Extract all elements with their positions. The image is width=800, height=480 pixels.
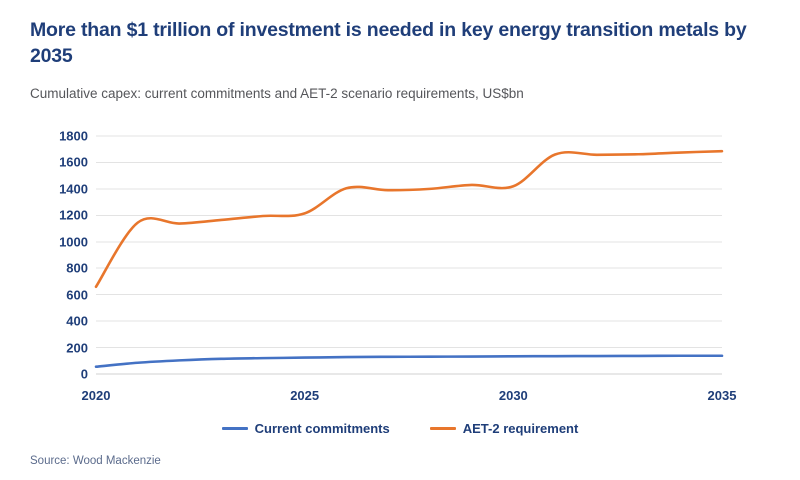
y-axis-tick-label: 1800	[32, 129, 88, 144]
y-axis-tick-label: 1200	[32, 208, 88, 223]
series-line-aet-2-requirement	[96, 151, 722, 287]
legend-item-aet-2-requirement[interactable]: AET-2 requirement	[430, 421, 579, 436]
x-axis-tick-label: 2020	[61, 388, 131, 403]
plot-area: 020040060080010001200140016001800 202020…	[0, 0, 800, 480]
y-axis-tick-label: 800	[32, 261, 88, 276]
legend-swatch-current-commitments	[222, 427, 248, 430]
series-lines	[96, 151, 722, 367]
line-chart-svg	[0, 0, 800, 480]
y-axis-tick-label: 1400	[32, 181, 88, 196]
legend-item-current-commitments[interactable]: Current commitments	[222, 421, 390, 436]
y-axis-tick-label: 600	[32, 287, 88, 302]
y-axis-tick-label: 400	[32, 314, 88, 329]
legend-label-aet-2-requirement: AET-2 requirement	[463, 421, 579, 436]
x-axis-tick-label: 2025	[270, 388, 340, 403]
legend-label-current-commitments: Current commitments	[255, 421, 390, 436]
y-axis-tick-label: 1000	[32, 234, 88, 249]
legend-swatch-aet-2-requirement	[430, 427, 456, 430]
chart-card: More than $1 trillion of investment is n…	[0, 0, 800, 480]
y-axis-tick-label: 1600	[32, 155, 88, 170]
gridlines	[96, 136, 722, 374]
series-line-current-commitments	[96, 356, 722, 367]
chart-legend: Current commitmentsAET-2 requirement	[0, 421, 800, 436]
y-axis-tick-label: 0	[32, 367, 88, 382]
x-axis-tick-label: 2030	[478, 388, 548, 403]
x-axis-tick-label: 2035	[687, 388, 757, 403]
source-note: Source: Wood Mackenzie	[30, 455, 161, 467]
y-axis-tick-label: 200	[32, 340, 88, 355]
